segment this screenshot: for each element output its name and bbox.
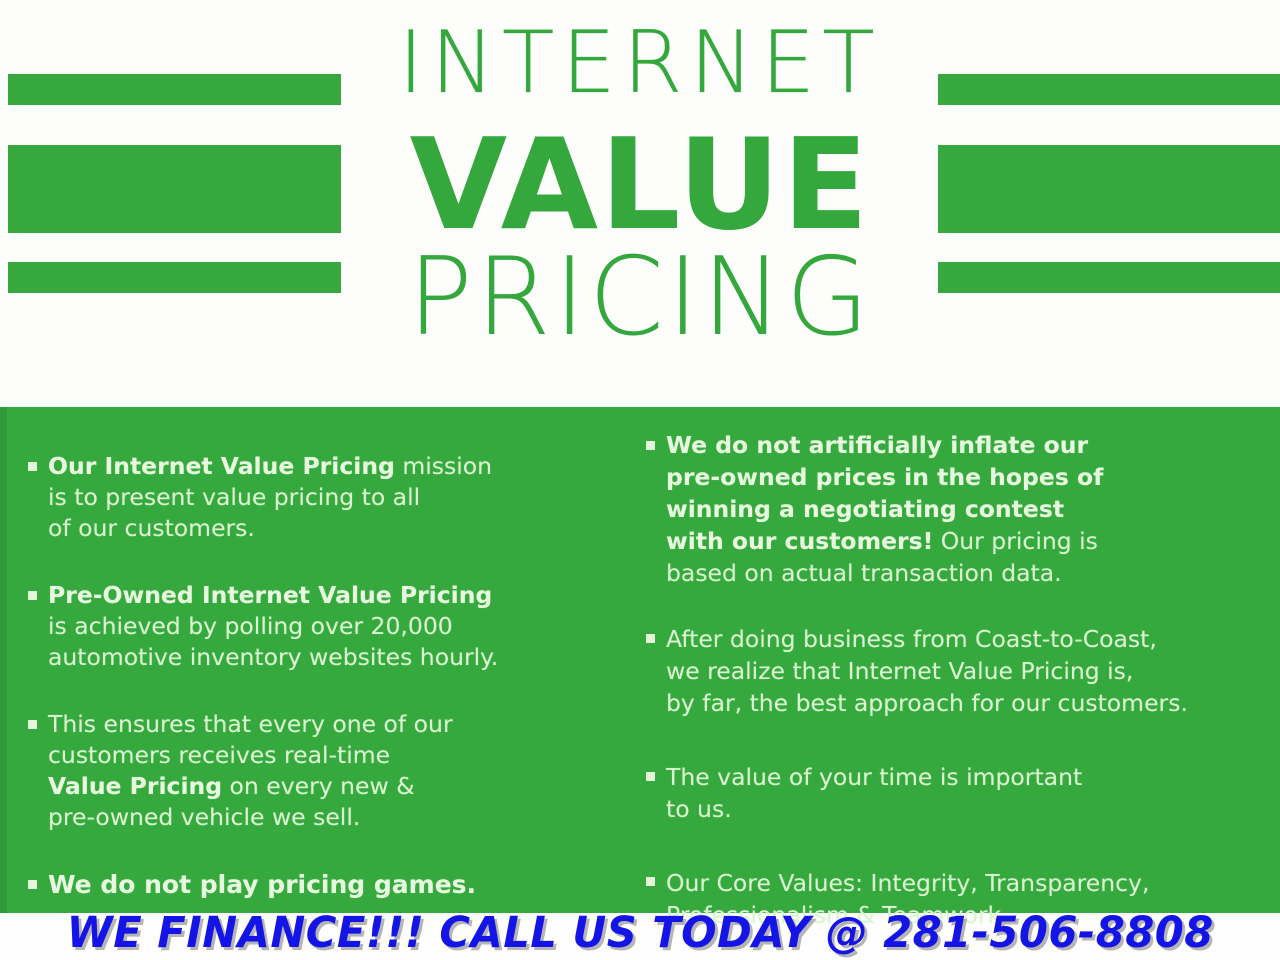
bullet-text-line3: by far, the best approach for our custom… xyxy=(666,689,1188,717)
bullet-text-line4: pre-owned vehicle we sell. xyxy=(48,803,360,831)
bullet-text-line3: of our customers. xyxy=(48,514,255,542)
list-item: After doing business from Coast-to-Coast… xyxy=(640,623,1260,719)
bullet-bold-lead: We do not play pricing games. xyxy=(48,870,476,899)
bullet-text-line2: is to present value pricing to all xyxy=(48,483,420,511)
bullet-text-line1: The value of your time is important xyxy=(666,763,1082,791)
finance-call-banner: WE FINANCE!!! CALL US TODAY @ 281-506-88… xyxy=(0,905,1280,960)
square-bullet-icon xyxy=(646,634,655,643)
bullet-text-line3: on every new & xyxy=(222,772,414,800)
logo-word-internet: INTERNET xyxy=(0,20,1280,106)
bullet-bold-line1: We do not artificially inflate our xyxy=(666,431,1088,459)
logo-word-value: VALUE xyxy=(0,122,1280,248)
bullet-text-line2: we realize that Internet Value Pricing i… xyxy=(666,657,1133,685)
list-item: The value of your time is important to u… xyxy=(640,761,1260,825)
bullet-column-right: We do not artificially inflate our pre-o… xyxy=(640,407,1260,957)
banner-text: WE FINANCE!!! CALL US TODAY @ 281-506-88… xyxy=(66,908,1213,958)
bullet-text-line2: is achieved by polling over 20,000 xyxy=(48,612,453,640)
flyer-page: INTERNET VALUE PRICING Our Internet Valu… xyxy=(0,0,1280,960)
bullet-bold-lead: Our Internet Value Pricing xyxy=(48,452,395,480)
bullet-text-line2: to us. xyxy=(666,795,732,823)
bullet-text-line1: This ensures that every one of our xyxy=(48,710,453,738)
square-bullet-icon xyxy=(28,880,37,889)
list-item: Pre-Owned Internet Value Pricing is achi… xyxy=(22,580,602,673)
bullet-bold-lead: Pre-Owned Internet Value Pricing xyxy=(48,581,492,609)
list-item: We do not artificially inflate our pre-o… xyxy=(640,429,1260,589)
bullet-column-left: Our Internet Value Pricing mission is to… xyxy=(22,407,602,926)
list-item: We do not play pricing games. xyxy=(22,869,602,900)
bullet-text-line1: After doing business from Coast-to-Coast… xyxy=(666,625,1157,653)
square-bullet-icon xyxy=(646,441,655,450)
bullet-text: mission xyxy=(395,452,492,480)
bullet-bold-line2: pre-owned prices in the hopes of xyxy=(666,463,1103,491)
bullet-text: Our pricing is xyxy=(933,527,1098,555)
bullet-text-line5: based on actual transaction data. xyxy=(666,559,1062,587)
square-bullet-icon xyxy=(646,877,655,886)
bullet-text-line3: automotive inventory websites hourly. xyxy=(48,643,498,671)
bullet-bold-line3: winning a negotiating contest xyxy=(666,495,1064,523)
square-bullet-icon xyxy=(28,720,37,729)
bullet-text-line1: Our Core Values: Integrity, Transparency… xyxy=(666,869,1149,897)
list-item: Our Internet Value Pricing mission is to… xyxy=(22,451,602,544)
bullet-inline-bold: Value Pricing xyxy=(48,772,222,800)
logo-word-pricing: PRICING xyxy=(0,244,1280,352)
logo-header: INTERNET VALUE PRICING xyxy=(0,0,1280,405)
green-content-panel: Our Internet Value Pricing mission is to… xyxy=(0,407,1280,913)
square-bullet-icon xyxy=(28,591,37,600)
bullet-bold-line4: with our customers! xyxy=(666,527,933,555)
square-bullet-icon xyxy=(28,462,37,471)
square-bullet-icon xyxy=(646,772,655,781)
bullet-text-line2: customers receives real-time xyxy=(48,741,390,769)
list-item: This ensures that every one of our custo… xyxy=(22,709,602,833)
